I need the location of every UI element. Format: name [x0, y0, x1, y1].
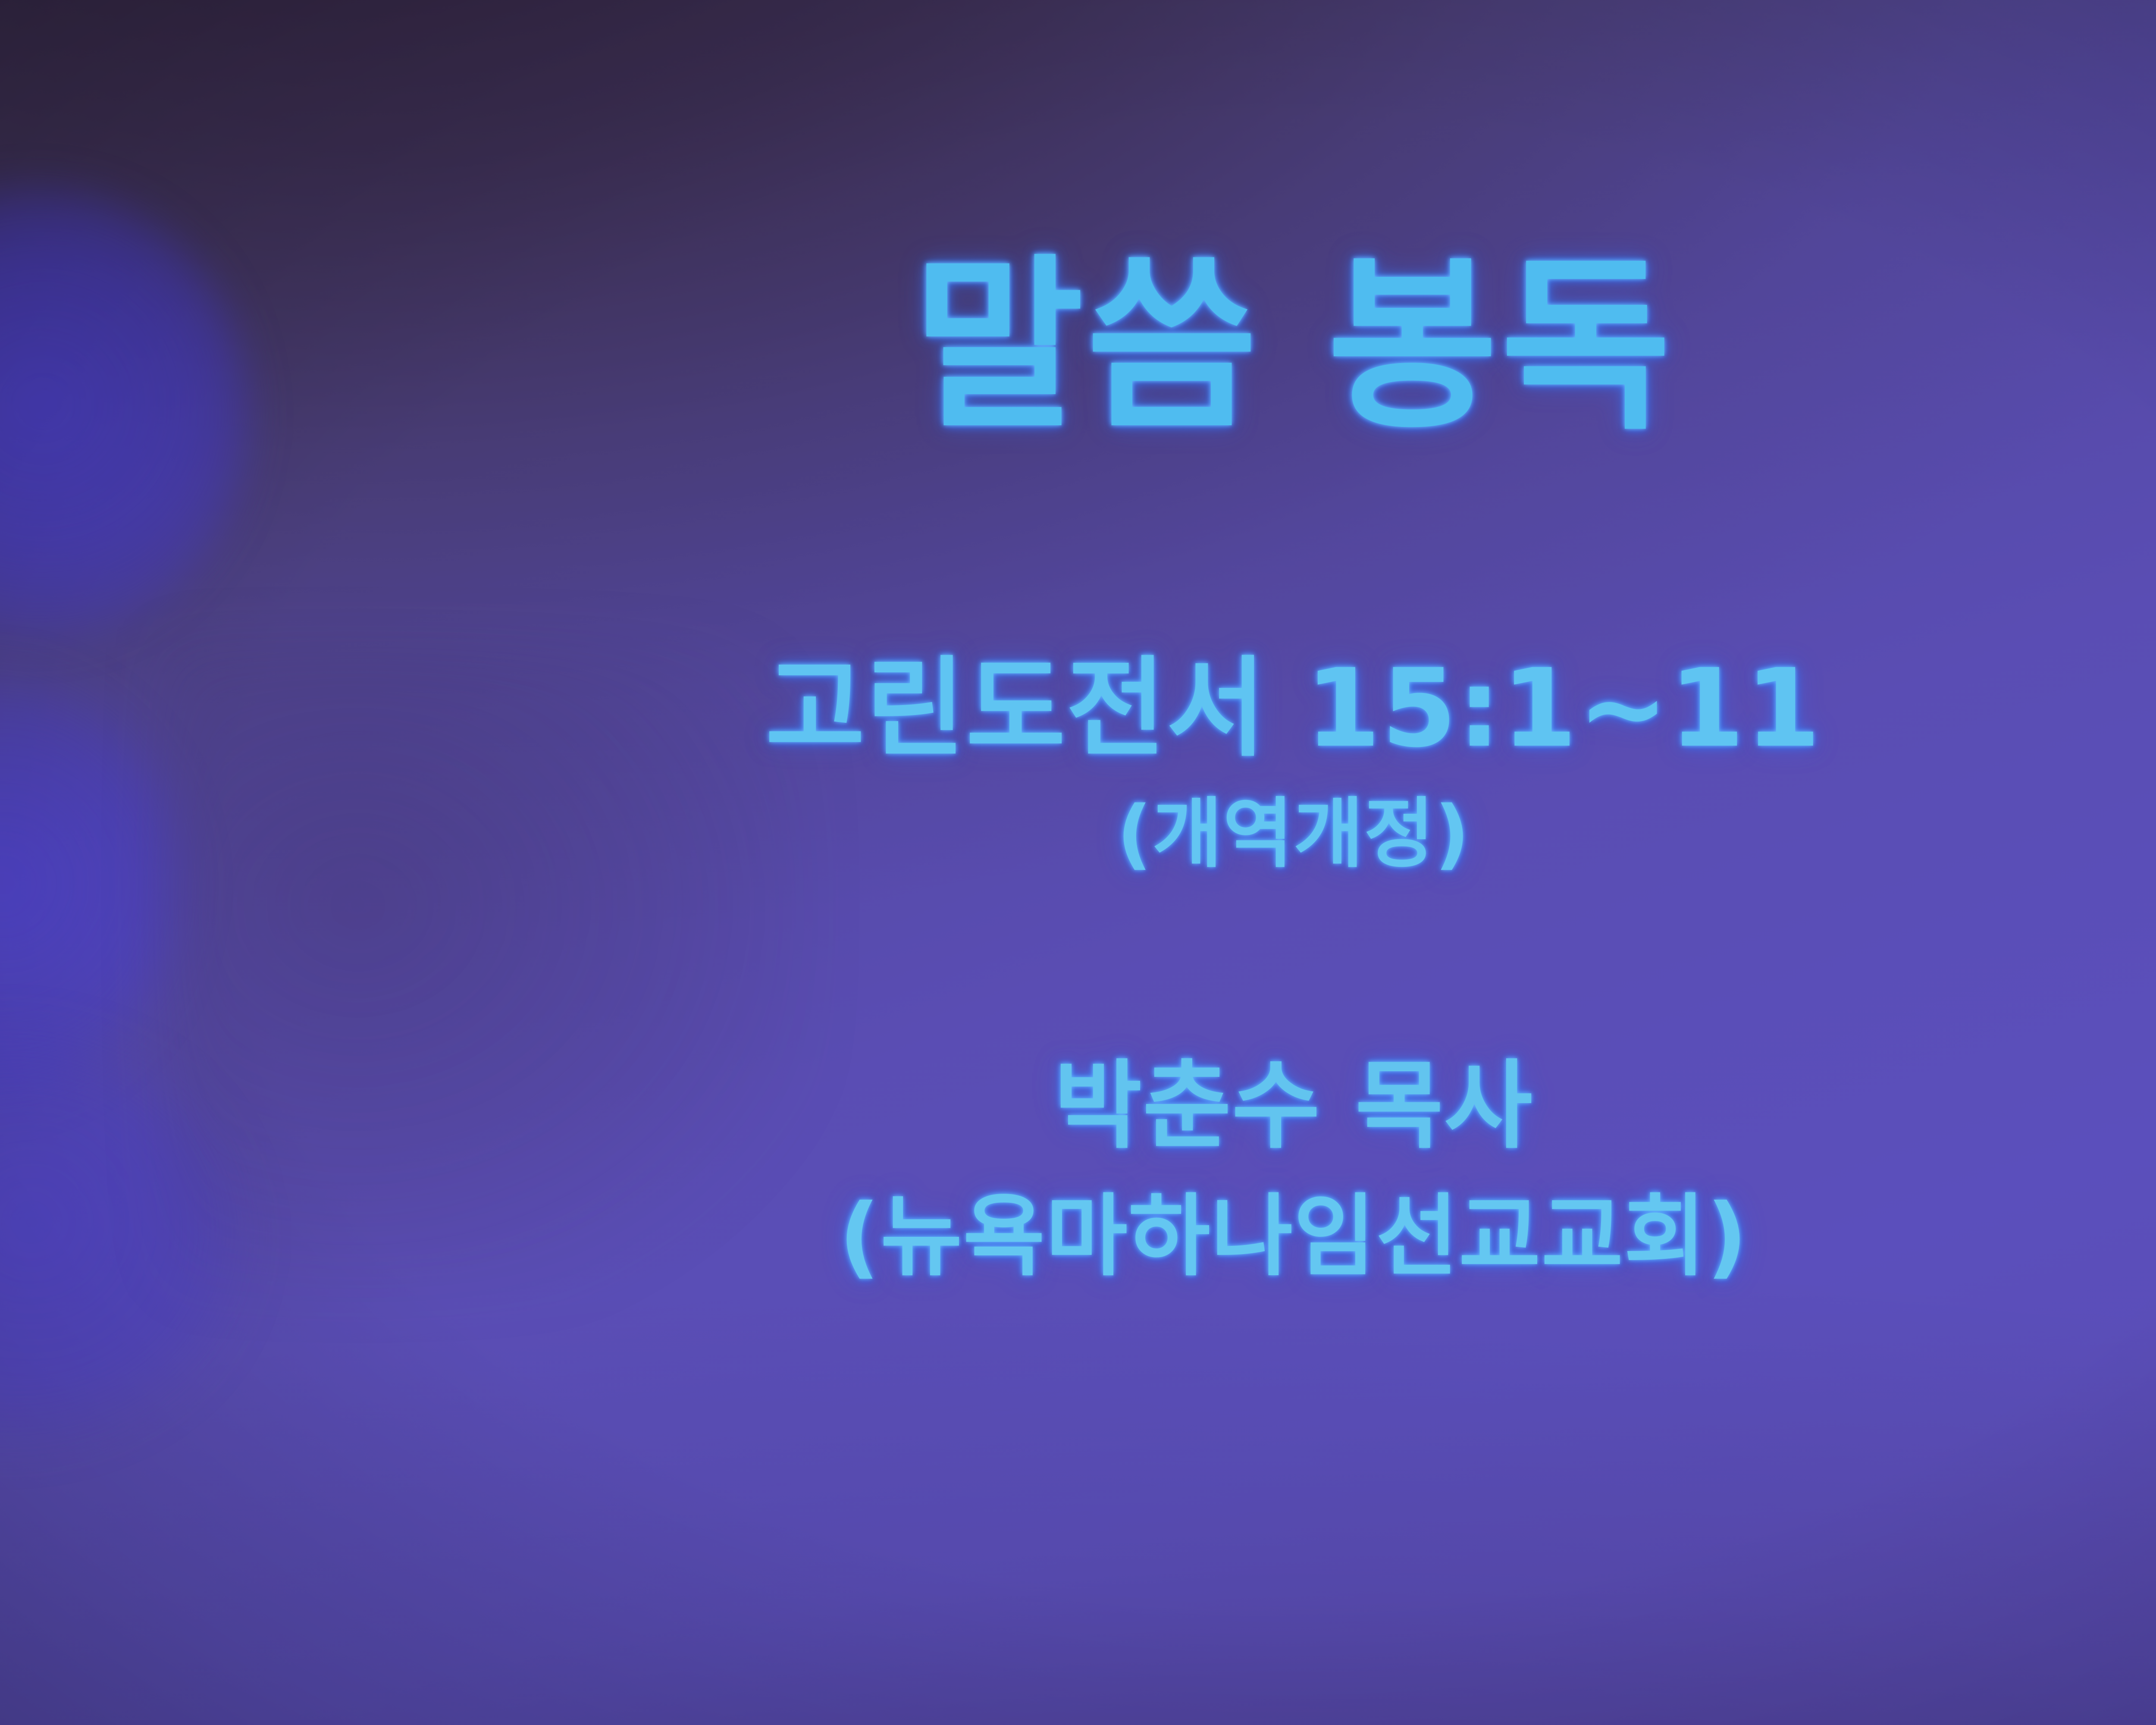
slide-content: 말씀 봉독 고린도전서 15:1~11 (개역개정) 박춘수 목사 (뉴욕마하나… [0, 0, 2156, 1725]
scripture-reference: 고린도전서 15:1~11 [766, 655, 1822, 762]
projected-slide-photo: 말씀 봉독 고린도전서 15:1~11 (개역개정) 박춘수 목사 (뉴욕마하나… [0, 0, 2156, 1725]
speaker-church-name: (뉴욕마하나임선교교회) [839, 1192, 1748, 1281]
scripture-version-label: (개역개정) [1117, 796, 1470, 872]
speaker-name: 박춘수 목사 [1054, 1058, 1533, 1154]
slide-title: 말씀 봉독 [913, 254, 1674, 439]
